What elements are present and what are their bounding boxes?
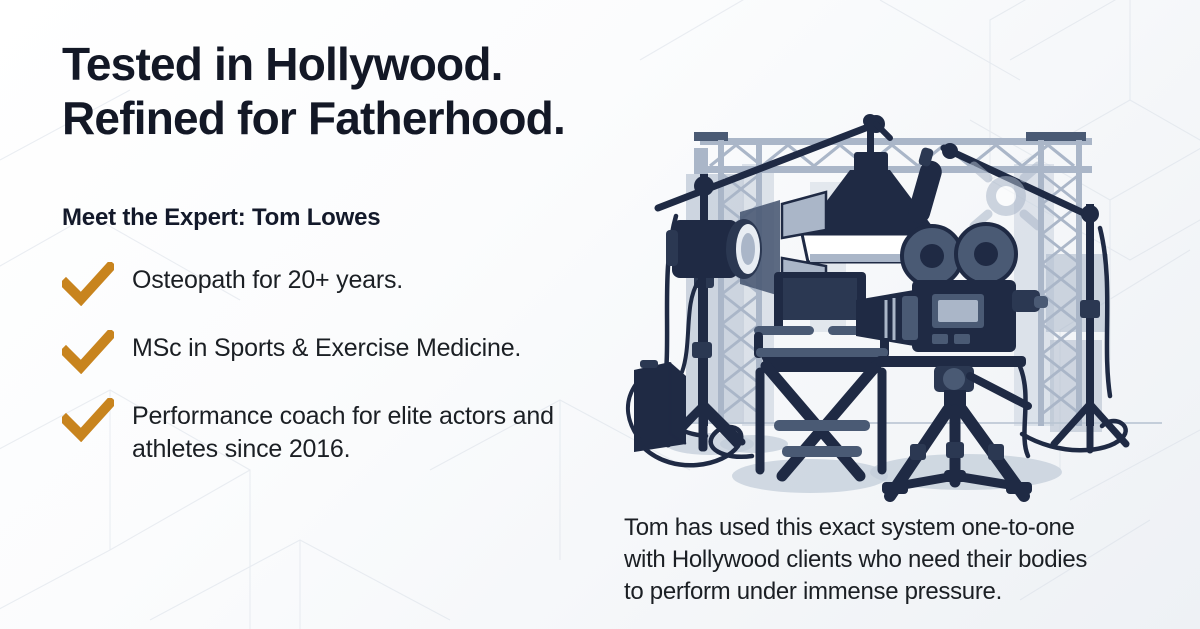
slide-canvas: Tested in Hollywood. Refined for Fatherh…	[0, 0, 1200, 629]
headline-line-2: Refined for Fatherhood.	[62, 92, 622, 146]
caption-line-1: Tom has used this exact system one-to-on…	[624, 512, 1184, 544]
film-studio-set-illustration: .dk { fill:#1f2a44; } .dk2 { fill:#2b385…	[614, 104, 1200, 514]
illustration-caption: Tom has used this exact system one-to-on…	[624, 512, 1184, 608]
headline-line-1: Tested in Hollywood.	[62, 38, 622, 92]
list-item-label: MSc in Sports & Exercise Medicine.	[132, 332, 521, 365]
list-item: Performance coach for elite actors and a…	[62, 400, 622, 466]
tripod-icon	[882, 362, 1032, 496]
list-item-label: Performance coach for elite actors and a…	[132, 400, 562, 466]
check-icon	[62, 262, 114, 306]
list-item: Osteopath for 20+ years.	[62, 264, 622, 306]
equipment-case-icon	[628, 360, 686, 452]
list-item: MSc in Sports & Exercise Medicine.	[62, 332, 622, 374]
check-icon	[62, 330, 114, 374]
check-icon	[62, 398, 114, 442]
caption-line-3: to perform under immense pressure.	[624, 576, 1184, 608]
page-title: Tested in Hollywood. Refined for Fatherh…	[62, 38, 622, 146]
shotgun-microphone-icon	[906, 147, 945, 226]
list-item-label: Osteopath for 20+ years.	[132, 264, 403, 297]
subheading-meet-the-expert: Meet the Expert: Tom Lowes	[62, 204, 622, 232]
left-content-column: Tested in Hollywood. Refined for Fatherh…	[62, 38, 622, 466]
caption-line-2: with Hollywood clients who need their bo…	[624, 544, 1184, 576]
credentials-list: Osteopath for 20+ years. MSc in Sports &…	[62, 264, 622, 466]
